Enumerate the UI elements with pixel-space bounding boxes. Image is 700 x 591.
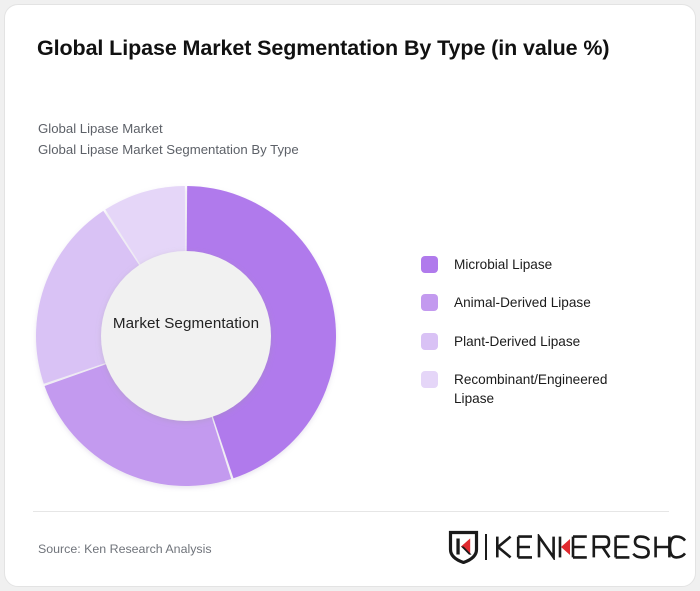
page-title: Global Lipase Market Segmentation By Typ… [37,34,662,63]
legend-swatch-icon [421,333,438,350]
legend-swatch-icon [421,294,438,311]
subtitle-line-2: Global Lipase Market Segmentation By Typ… [38,139,638,160]
brand-divider [485,534,487,560]
legend-item-microbial-lipase[interactable]: Microbial Lipase [421,255,671,274]
legend-swatch-icon [421,371,438,388]
donut-center-label: Market Segmentation [30,315,342,332]
legend-label: Animal-Derived Lipase [454,293,591,312]
legend-label: Recombinant/Engineered Lipase [454,370,650,409]
legend-swatch-icon [421,256,438,273]
brand-logo [448,529,686,565]
legend-item-plant-derived-lipase[interactable]: Plant-Derived Lipase [421,332,671,351]
legend-label: Plant-Derived Lipase [454,332,580,351]
subtitle-block: Global Lipase Market Global Lipase Marke… [38,118,638,161]
donut-chart-svg [30,180,342,492]
source-note: Source: Ken Research Analysis [38,542,212,556]
legend-label: Microbial Lipase [454,255,552,274]
subtitle-line-1: Global Lipase Market [38,118,638,139]
footer-divider [33,511,669,512]
ken-research-shield-icon [448,530,479,564]
donut-center-hole [101,251,271,421]
ken-research-wordmark [494,534,686,560]
donut-chart: Market Segmentation [30,180,342,492]
chart-legend: Microbial Lipase Animal-Derived Lipase P… [421,255,671,427]
legend-item-recombinant-engineered-lipase[interactable]: Recombinant/Engineered Lipase [421,370,671,409]
legend-item-animal-derived-lipase[interactable]: Animal-Derived Lipase [421,293,671,312]
chart-card: Global Lipase Market Segmentation By Typ… [4,4,696,587]
